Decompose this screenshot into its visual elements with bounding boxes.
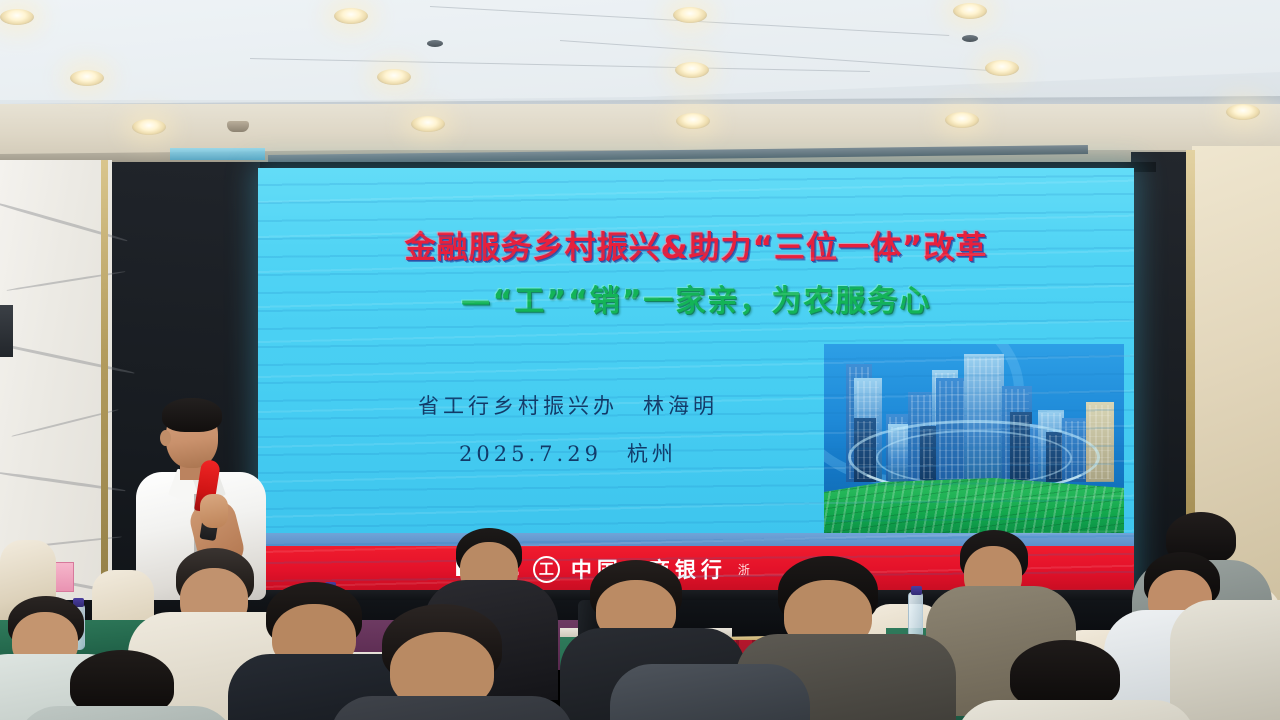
icbc-province-label: 浙 [738,561,751,578]
ceiling-vent-icon [227,121,249,132]
ceiling-downlight [1226,104,1260,120]
ceiling-downlight [70,70,104,86]
ceiling-downlight [377,69,411,85]
ceiling-downlight [945,112,979,128]
ceiling-downlight [132,119,166,135]
slide-title-sub: —“工”“销”一家亲，为农服务心 [258,276,1134,320]
slide-dateline: 2025.7.29 杭州 [318,438,818,468]
conference-hall-scene: 金融服务乡村振兴&助力“三位一体”改革 —“工”“销”一家亲，为农服务心 省工行… [0,0,1280,720]
ceiling-downlight [676,113,710,129]
slide-byline: 省工行乡村振兴办 林海明 [318,390,818,420]
road-curve [876,430,1072,486]
ceiling-downlight [673,7,707,23]
slide: 金融服务乡村振兴&助力“三位一体”改革 —“工”“销”一家亲，为农服务心 省工行… [258,168,1134,592]
icbc-logo-icon: 工 [533,556,560,583]
city-skyline-illustration [824,344,1124,540]
ceiling-downlight [411,116,445,132]
led-presentation-screen[interactable]: 金融服务乡村振兴&助力“三位一体”改革 —“工”“销”一家亲，为农服务心 省工行… [258,168,1134,592]
ac-grille [170,148,265,160]
ceiling-downlight [675,62,709,78]
ceiling-downlight [0,9,34,25]
sprinkler-icon [427,40,443,47]
water-bottle [908,592,923,638]
gold-trim-left [101,160,108,638]
slide-title-main: 金融服务乡村振兴&助力“三位一体”改革 [258,222,1134,267]
wall-fixture [0,305,13,357]
ceiling-downlight [334,8,368,24]
ceiling-downlight [985,60,1019,76]
ceiling-downlight [953,3,987,19]
sprinkler-icon [962,35,978,42]
